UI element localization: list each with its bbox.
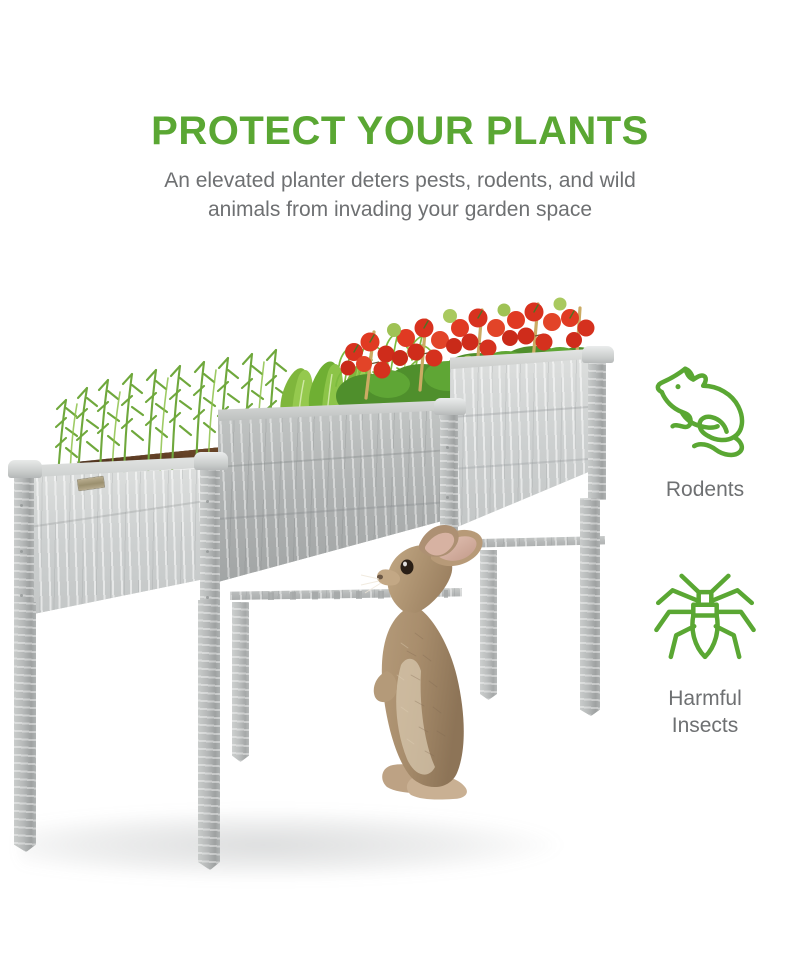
planter-post-cap-front-left	[8, 460, 42, 478]
screw	[20, 594, 23, 597]
planter-post-middle-near	[200, 464, 220, 614]
planter-post-cap-middle-near	[194, 452, 228, 470]
feature-label-rodents: Rodents	[610, 476, 800, 503]
page-title: PROTECT YOUR PLANTS	[0, 108, 800, 154]
rodent-icon	[651, 360, 759, 462]
subtitle-line-2: animals from invading your garden space	[80, 195, 720, 224]
screw	[446, 446, 449, 449]
screw	[206, 550, 209, 553]
planter-leg-front-middle	[198, 600, 220, 870]
screw	[20, 550, 23, 553]
feature-label-harmful-insects: Harmful Insects	[610, 685, 800, 739]
planter-leg-front-right	[580, 498, 600, 716]
contact-shadow	[20, 810, 560, 880]
insect-icon	[651, 569, 759, 671]
planter-post-front-left	[14, 472, 34, 620]
screw	[446, 496, 449, 499]
planter-leg-front-left	[14, 602, 36, 852]
subtitle-line-1: An elevated planter deters pests, rodent…	[80, 166, 720, 195]
planter-post-cap-section-seam	[434, 398, 466, 415]
screw	[20, 504, 23, 507]
feature-rodents: Rodents	[610, 360, 800, 503]
header-block: PROTECT YOUR PLANTS An elevated planter …	[0, 108, 800, 224]
screw	[206, 500, 209, 503]
product-scene	[0, 250, 620, 910]
rabbit	[345, 515, 495, 800]
planter-post-far-right	[588, 358, 606, 500]
planter-leg-rear-left	[232, 602, 249, 762]
feature-harmful-insects: Harmful Insects	[610, 569, 800, 739]
feature-list: Rodents	[610, 360, 800, 805]
planter-front-wall-left	[14, 468, 219, 618]
page-subtitle: An elevated planter deters pests, rodent…	[80, 166, 720, 224]
product-feature-graphic: PROTECT YOUR PLANTS An elevated planter …	[0, 0, 800, 977]
screw	[206, 596, 209, 599]
